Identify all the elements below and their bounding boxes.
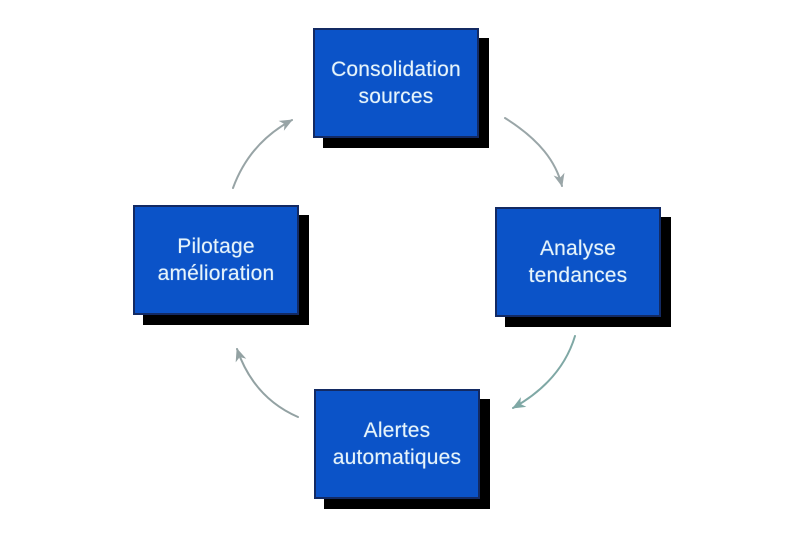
arrow-top-to-right [505, 118, 562, 186]
diagram-canvas: Consolidation sources Analyse tendances … [0, 0, 800, 533]
arrow-right-to-bottom [513, 336, 575, 408]
node-label: Pilotage amélioration [150, 233, 283, 288]
node-analyse-tendances[interactable]: Analyse tendances [495, 207, 661, 317]
arrow-left-to-top [233, 120, 292, 188]
arrow-bottom-to-left [237, 349, 298, 417]
node-consolidation-sources[interactable]: Consolidation sources [313, 28, 479, 138]
node-alertes-automatiques[interactable]: Alertes automatiques [314, 389, 480, 499]
node-pilotage-amelioration[interactable]: Pilotage amélioration [133, 205, 299, 315]
node-label: Consolidation sources [323, 56, 469, 111]
node-label: Analyse tendances [521, 235, 636, 290]
node-label: Alertes automatiques [325, 417, 469, 472]
